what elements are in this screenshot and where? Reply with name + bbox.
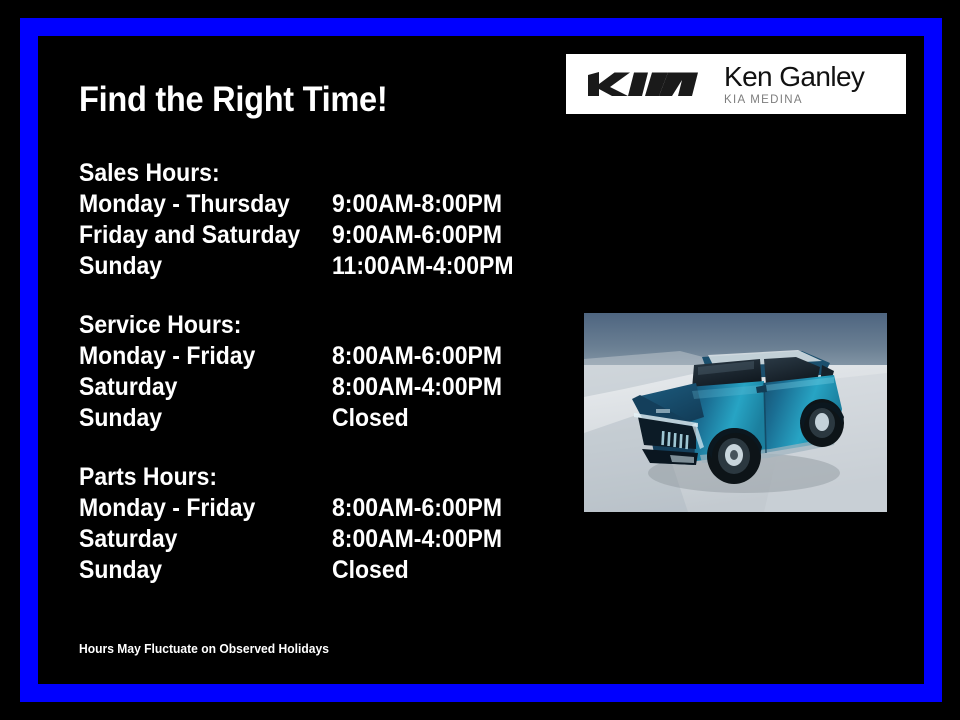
kia-ev9-concept-suv-photo (584, 313, 887, 512)
dealer-name-group: Ken Ganley KIA MEDINA (724, 62, 864, 107)
hours-block-heading: Sales Hours: (79, 158, 539, 189)
hours-time-value: 9:00AM-6:00PM (332, 220, 502, 251)
hours-time-value: 9:00AM-8:00PM (332, 189, 502, 220)
hours-time-value: 8:00AM-4:00PM (332, 372, 502, 403)
hours-time-value: Closed (332, 555, 409, 586)
hours-day-label: Saturday (79, 524, 177, 555)
hours-time-value: Closed (332, 403, 409, 434)
holiday-disclaimer: Hours May Fluctuate on Observed Holidays (79, 641, 329, 656)
hours-time-value: 8:00AM-6:00PM (332, 493, 502, 524)
hours-block-parts: Parts Hours: Monday - Friday 8:00AM-6:00… (79, 462, 579, 586)
hours-time-value: 8:00AM-6:00PM (332, 341, 502, 372)
hours-day-label: Monday - Thursday (79, 189, 290, 220)
kia-logo-icon (584, 69, 702, 99)
hours-block-sales: Sales Hours: Monday - Thursday 9:00AM-8:… (79, 158, 579, 282)
hours-row: Saturday 8:00AM-4:00PM (79, 524, 579, 555)
hours-block-service: Service Hours: Monday - Friday 8:00AM-6:… (79, 310, 579, 434)
hours-time-value: 8:00AM-4:00PM (332, 524, 502, 555)
hours-row: Monday - Thursday 9:00AM-8:00PM (79, 189, 579, 220)
hours-row: Monday - Friday 8:00AM-6:00PM (79, 493, 579, 524)
hours-day-label: Friday and Saturday (79, 220, 300, 251)
hours-day-label: Monday - Friday (79, 341, 255, 372)
hours-block-heading: Parts Hours: (79, 462, 539, 493)
hours-day-label: Saturday (79, 372, 177, 403)
hours-row: Monday - Friday 8:00AM-6:00PM (79, 341, 579, 372)
hours-row: Friday and Saturday 9:00AM-6:00PM (79, 220, 579, 251)
hours-day-label: Monday - Friday (79, 493, 255, 524)
hours-row: Saturday 8:00AM-4:00PM (79, 372, 579, 403)
hours-day-label: Sunday (79, 251, 162, 282)
dealer-name: Ken Ganley (724, 62, 864, 92)
hours-row: Sunday 11:00AM-4:00PM (79, 251, 579, 282)
dealership-hours-slide: Find the Right Time! Sales Hours: Monday… (0, 0, 960, 720)
hours-day-label: Sunday (79, 555, 162, 586)
hours-row: Sunday Closed (79, 403, 579, 434)
hours-day-label: Sunday (79, 403, 162, 434)
hours-row: Sunday Closed (79, 555, 579, 586)
hours-time-value: 11:00AM-4:00PM (332, 251, 514, 282)
dealer-location-label: KIA MEDINA (724, 93, 864, 107)
dealer-logo-banner: Ken Ganley KIA MEDINA (566, 54, 906, 114)
page-title: Find the Right Time! (79, 80, 387, 120)
slide-content-area: Find the Right Time! Sales Hours: Monday… (38, 36, 924, 684)
hours-block-heading: Service Hours: (79, 310, 539, 341)
